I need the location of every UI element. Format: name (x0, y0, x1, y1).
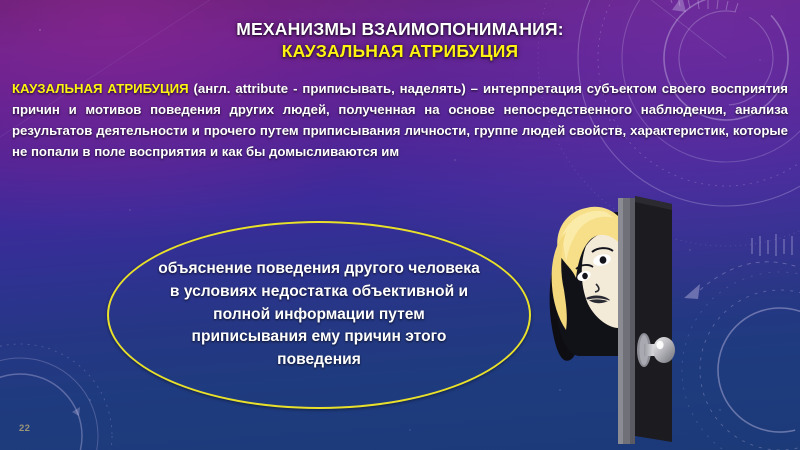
slide-number: 22 (19, 423, 30, 434)
title-line-1: МЕХАНИЗМЫ ВЗАИМОПОНИМАНИЯ: (0, 18, 800, 40)
slide-title: МЕХАНИЗМЫ ВЗАИМОПОНИМАНИЯ: КАУЗАЛЬНАЯ АТ… (0, 18, 800, 63)
definition-keyword: КАУЗАЛЬНАЯ АТРИБУЦИЯ (12, 81, 189, 96)
definition-paragraph: КАУЗАЛЬНАЯ АТРИБУЦИЯ (англ. attribute - … (12, 79, 788, 163)
title-line-2: КАУЗАЛЬНАЯ АТРИБУЦИЯ (0, 40, 800, 62)
callout-text: объяснение поведения другого человека в … (154, 258, 484, 372)
callout-ellipse: объяснение поведения другого человека в … (107, 221, 531, 409)
illustration-woman-behind-door (540, 190, 720, 450)
door (618, 196, 672, 444)
blonde-woman-figure (550, 207, 618, 361)
slide-canvas: МЕХАНИЗМЫ ВЗАИМОПОНИМАНИЯ: КАУЗАЛЬНАЯ АТ… (0, 0, 800, 450)
